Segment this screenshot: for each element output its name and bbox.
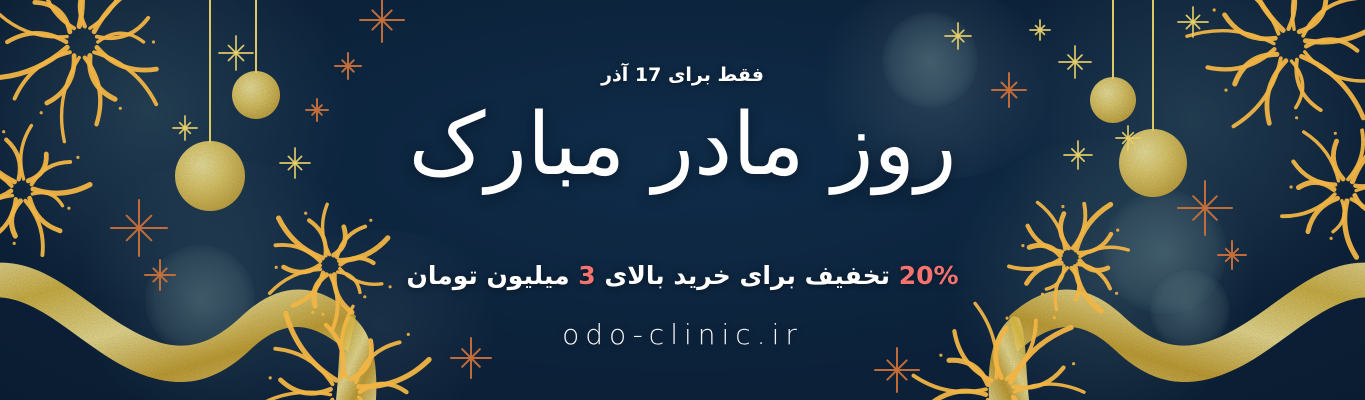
- page-title: روز مادر مبارک: [408, 97, 956, 193]
- offer-text-after: میلیون تومان: [406, 261, 578, 290]
- website-url[interactable]: odo-clinic.ir: [562, 318, 803, 351]
- promo-date-kicker: فقط برای 17 آذر: [601, 66, 764, 85]
- banner-content: فقط برای 17 آذر روز مادر مبارک 20% تخفیف…: [0, 0, 1365, 400]
- offer-text-before: تخفیف برای خرید بالای: [596, 261, 899, 290]
- minimum-amount: 3: [578, 261, 595, 290]
- offer-line: 20% تخفیف برای خرید بالای 3 میلیون تومان: [406, 263, 958, 288]
- discount-percent: 20%: [899, 261, 959, 290]
- promo-banner: فقط برای 17 آذر روز مادر مبارک 20% تخفیف…: [0, 0, 1365, 400]
